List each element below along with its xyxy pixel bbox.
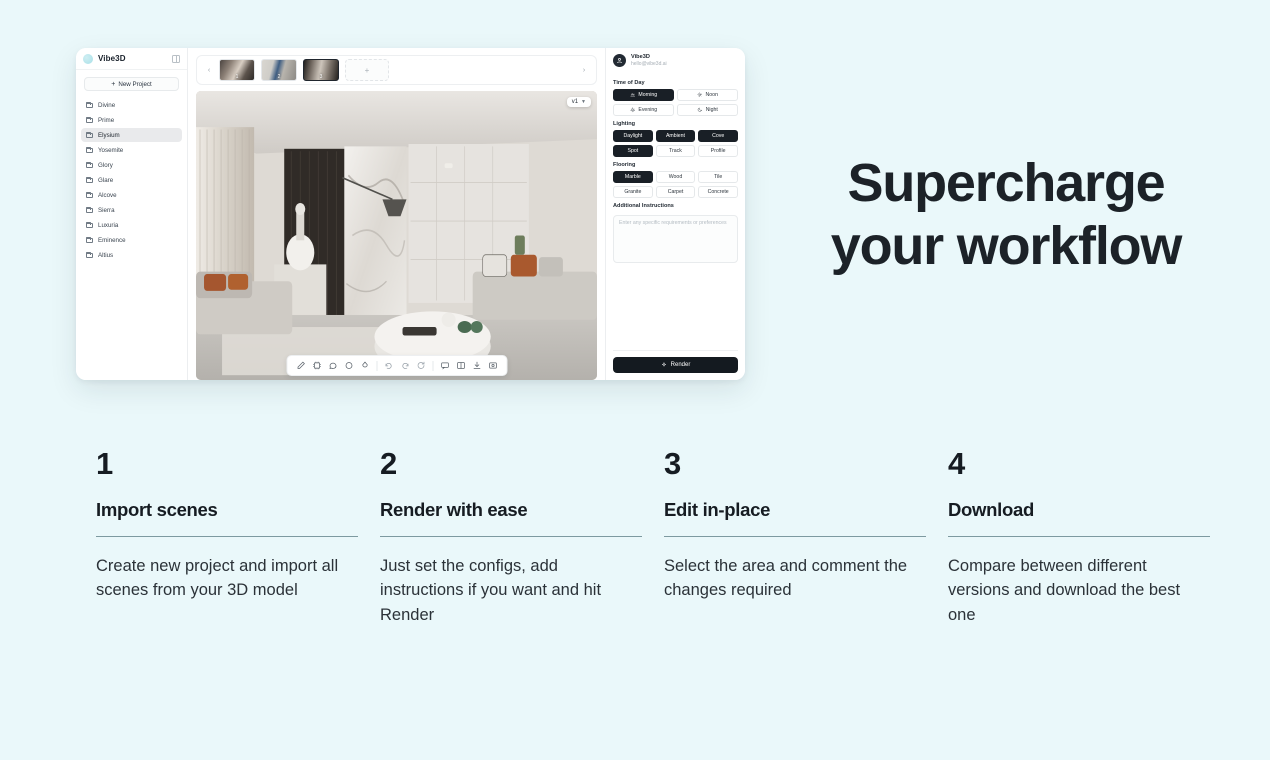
scene-thumbnail-2[interactable]: 2: [261, 59, 297, 81]
add-scene-button[interactable]: +: [345, 59, 389, 81]
export-icon[interactable]: [488, 361, 497, 370]
headline-line-1: Supercharge: [790, 152, 1222, 215]
sunrise-icon: [630, 92, 636, 98]
sunset-icon: [630, 107, 636, 113]
sidebar-header: Vibe3D: [76, 48, 187, 70]
step-title: Edit in-place: [664, 499, 926, 537]
sidebar-item-alcove[interactable]: Alcove: [81, 188, 182, 202]
scene-tabstrip: ‹ 123 + ›: [196, 55, 597, 85]
sidebar-item-label: Alcove: [98, 192, 117, 199]
option-evening[interactable]: Evening: [613, 104, 674, 116]
option-spot[interactable]: Spot: [613, 145, 653, 157]
step-title: Download: [948, 499, 1210, 537]
rendered-scene-image: [196, 91, 597, 380]
option-label: Marble: [625, 174, 641, 180]
step-4: 4DownloadCompare between different versi…: [948, 448, 1210, 627]
headline-line-2: your workflow: [790, 215, 1222, 278]
option-label: Noon: [706, 92, 718, 98]
version-label: v1: [572, 99, 578, 105]
option-label: Concrete: [708, 189, 729, 195]
download-icon[interactable]: [472, 361, 481, 370]
account-name: Vibe3D: [631, 54, 667, 61]
canvas-toolbar: [286, 355, 507, 376]
option-noon[interactable]: Noon: [677, 89, 738, 101]
scene-thumbnail-3[interactable]: 3: [303, 59, 339, 81]
step-description: Select the area and comment the changes …: [664, 554, 926, 603]
moon-icon: [697, 107, 703, 113]
steps-section: 1Import scenesCreate new project and imp…: [96, 448, 1210, 627]
config-section-label-flooring: Flooring: [613, 162, 738, 168]
option-daylight[interactable]: Daylight: [613, 130, 653, 142]
scene-number: 3: [304, 74, 338, 80]
sidebar-item-eminence[interactable]: Eminence: [81, 233, 182, 247]
sidebar-item-label: Glory: [98, 162, 113, 169]
chevron-down-icon: ▼: [581, 99, 586, 105]
redo-icon[interactable]: [400, 361, 409, 370]
new-project-button[interactable]: + New Project: [84, 77, 179, 91]
undo-icon[interactable]: [384, 361, 393, 370]
option-label: Spot: [627, 148, 638, 154]
sidebar-item-label: Divine: [98, 102, 115, 109]
scene-thumbnails: 123: [219, 59, 339, 81]
option-label: Ambient: [666, 133, 685, 139]
user-avatar-icon: [613, 54, 626, 67]
compare-split-icon[interactable]: [456, 361, 465, 370]
step-number: 3: [664, 448, 926, 479]
option-label: Evening: [638, 107, 657, 113]
option-marble[interactable]: Marble: [613, 171, 653, 183]
folder-icon: [86, 117, 93, 123]
step-title: Render with ease: [380, 499, 642, 537]
scene-thumbnail-1[interactable]: 1: [219, 59, 255, 81]
version-badge[interactable]: v1 ▼: [567, 97, 591, 107]
option-granite[interactable]: Granite: [613, 186, 653, 198]
account-row[interactable]: Vibe3D hello@vibe3d.ai: [613, 54, 738, 75]
config-footer: Render: [613, 350, 738, 380]
sparkle-icon: [661, 362, 667, 368]
step-description: Create new project and import all scenes…: [96, 554, 358, 603]
step-title: Import scenes: [96, 499, 358, 537]
sidebar-item-label: Luxuria: [98, 222, 118, 229]
folder-icon: [86, 222, 93, 228]
sidebar-item-glory[interactable]: Glory: [81, 158, 182, 172]
option-label: Track: [669, 148, 682, 154]
config-option-grid: DaylightAmbientCoveSpotTrackProfile: [613, 130, 738, 157]
folder-icon: [86, 237, 93, 243]
sidebar-item-label: Yosemite: [98, 147, 123, 154]
option-label: Carpet: [668, 189, 684, 195]
sun-icon: [697, 92, 703, 98]
option-tile[interactable]: Tile: [698, 171, 738, 183]
config-option-grid: MarbleWoodTileGraniteCarpetConcrete: [613, 171, 738, 198]
option-profile[interactable]: Profile: [698, 145, 738, 157]
note-icon[interactable]: [440, 361, 449, 370]
sidebar-item-altius[interactable]: Altius: [81, 248, 182, 262]
scene-number: 1: [220, 74, 254, 80]
sidebar-item-label: Elysium: [98, 132, 120, 139]
option-concrete[interactable]: Concrete: [698, 186, 738, 198]
config-option-grid: MorningNoonEveningNight: [613, 89, 738, 116]
step-2: 2Render with easeJust set the configs, a…: [380, 448, 642, 627]
page-title: Supercharge your workflow: [790, 152, 1222, 277]
instructions-label: Additional Instructions: [613, 203, 738, 209]
circle-icon[interactable]: [344, 361, 353, 370]
option-label: Wood: [669, 174, 682, 180]
folder-icon: [86, 102, 93, 108]
option-cove[interactable]: Cove: [698, 130, 738, 142]
option-label: Morning: [638, 92, 657, 98]
folder-icon: [86, 252, 93, 258]
add-scene-label: +: [365, 66, 370, 75]
sidebar-item-label: Prime: [98, 117, 114, 124]
pen-icon[interactable]: [296, 361, 305, 370]
config-panel: Vibe3D hello@vibe3d.ai Time of DayMornin…: [605, 48, 745, 380]
step-number: 1: [96, 448, 358, 479]
app-window-mockup: Vibe3D + New Project DivinePrimeElysiumY…: [76, 48, 745, 380]
folder-icon: [86, 147, 93, 153]
step-description: Just set the configs, add instructions i…: [380, 554, 642, 627]
step-number: 4: [948, 448, 1210, 479]
config-sections: Time of DayMorningNoonEveningNightLighti…: [613, 75, 738, 198]
render-button[interactable]: Render: [613, 357, 738, 373]
scene-number: 2: [262, 74, 296, 80]
option-label: Tile: [714, 174, 722, 180]
landing-page: Vibe3D + New Project DivinePrimeElysiumY…: [0, 0, 1270, 760]
folder-icon: [86, 177, 93, 183]
sidebar-item-yosemite[interactable]: Yosemite: [81, 143, 182, 157]
step-1: 1Import scenesCreate new project and imp…: [96, 448, 358, 627]
option-label: Profile: [711, 148, 726, 154]
sidebar-item-label: Sierra: [98, 207, 115, 214]
option-carpet[interactable]: Carpet: [656, 186, 696, 198]
toolbar-divider: [376, 361, 377, 371]
fill-drop-icon[interactable]: [360, 361, 369, 370]
option-night[interactable]: Night: [677, 104, 738, 116]
option-label: Cove: [712, 133, 724, 139]
config-section-label-lighting: Lighting: [613, 121, 738, 127]
vibe3d-logo-icon: [83, 54, 93, 64]
panel-toggle-icon[interactable]: [172, 55, 180, 63]
option-ambient[interactable]: Ambient: [656, 130, 696, 142]
step-description: Compare between different versions and d…: [948, 554, 1210, 627]
sidebar-item-luxuria[interactable]: Luxuria: [81, 218, 182, 232]
option-label: Night: [706, 107, 718, 113]
render-canvas[interactable]: v1 ▼: [196, 91, 597, 380]
folder-icon: [86, 132, 93, 138]
render-label: Render: [671, 362, 691, 368]
app-canvas-area: ‹ 123 + ›: [188, 48, 605, 380]
folder-icon: [86, 192, 93, 198]
step-3: 3Edit in-placeSelect the area and commen…: [664, 448, 926, 627]
new-project-label: New Project: [118, 81, 151, 88]
account-email: hello@vibe3d.ai: [631, 61, 667, 68]
logo-text: Vibe3D: [98, 54, 126, 63]
reset-icon[interactable]: [416, 361, 425, 370]
sidebar-item-prime[interactable]: Prime: [81, 113, 182, 127]
crop-icon[interactable]: [312, 361, 321, 370]
plus-icon: +: [111, 81, 115, 88]
comment-bubble-icon[interactable]: [328, 361, 337, 370]
option-label: Granite: [624, 189, 641, 195]
instructions-input[interactable]: Enter any specific requirements or prefe…: [613, 215, 738, 263]
chevron-left-icon[interactable]: ‹: [205, 67, 213, 74]
sidebar-item-label: Glare: [98, 177, 113, 184]
chevron-right-icon[interactable]: ›: [580, 67, 588, 74]
app-sidebar: Vibe3D + New Project DivinePrimeElysiumY…: [76, 48, 188, 380]
toolbar-divider: [432, 361, 433, 371]
option-wood[interactable]: Wood: [656, 171, 696, 183]
sidebar-item-label: Altius: [98, 252, 113, 259]
project-list: DivinePrimeElysiumYosemiteGloryGlareAlco…: [76, 96, 187, 264]
sidebar-item-glare[interactable]: Glare: [81, 173, 182, 187]
sidebar-item-divine[interactable]: Divine: [81, 98, 182, 112]
option-morning[interactable]: Morning: [613, 89, 674, 101]
folder-icon: [86, 207, 93, 213]
sidebar-item-label: Eminence: [98, 237, 126, 244]
folder-icon: [86, 162, 93, 168]
sidebar-item-sierra[interactable]: Sierra: [81, 203, 182, 217]
step-number: 2: [380, 448, 642, 479]
sidebar-item-elysium[interactable]: Elysium: [81, 128, 182, 142]
option-track[interactable]: Track: [656, 145, 696, 157]
option-label: Daylight: [623, 133, 642, 139]
config-section-label-time-of-day: Time of Day: [613, 80, 738, 86]
